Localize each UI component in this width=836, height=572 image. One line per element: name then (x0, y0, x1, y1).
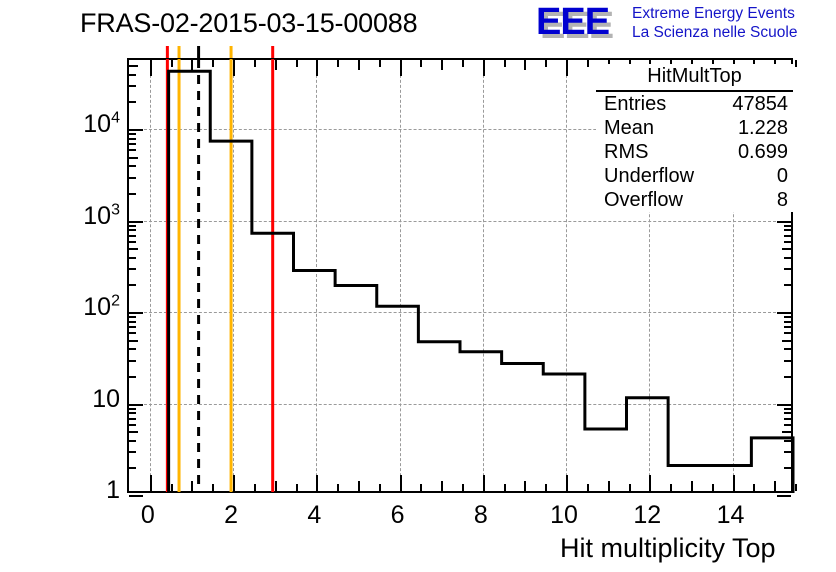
stats-row-label: Underflow (604, 164, 694, 188)
y-axis-minor-tick (129, 241, 136, 243)
gridline-vertical (233, 60, 234, 491)
y-axis-minor-tick (129, 101, 136, 103)
y-axis-minor-tick (129, 85, 136, 87)
y-axis-minor-tick (129, 418, 136, 420)
y-axis-minor-tick (784, 451, 791, 453)
stats-row: Mean1.228 (596, 116, 793, 140)
x-axis-tick-label: 12 (617, 501, 677, 530)
y-axis-minor-tick (784, 467, 791, 469)
y-axis-minor-tick (784, 257, 791, 259)
x-axis-minor-tick (379, 484, 381, 491)
x-axis-minor-tick (441, 481, 443, 491)
stats-row-label: Entries (604, 92, 666, 116)
y-axis-minor-tick (784, 424, 791, 426)
y-axis-tick-label: 104 (40, 110, 120, 139)
x-axis-minor-tick (524, 60, 526, 70)
y-axis-tick-label: 1 (40, 476, 120, 505)
y-axis-minor-tick (129, 193, 136, 195)
x-axis-minor-tick (504, 484, 506, 491)
y-axis-minor-tick (784, 316, 791, 318)
y-axis-major-tick (129, 221, 143, 223)
y-axis-minor-tick (784, 229, 791, 231)
x-axis-minor-tick (254, 60, 256, 67)
y-axis-minor-tick (129, 408, 136, 410)
stats-row-value: 0 (777, 164, 788, 188)
y-axis-major-tick (129, 495, 143, 497)
eee-logo-mark-front: EEE (536, 3, 609, 41)
x-axis-major-tick (233, 60, 235, 76)
y-axis-minor-tick (782, 340, 791, 342)
x-axis-minor-tick (212, 60, 214, 67)
gridline-horizontal (129, 404, 791, 405)
x-axis-minor-tick (254, 484, 256, 491)
x-axis-minor-tick (171, 60, 173, 67)
x-axis-major-tick (649, 475, 651, 491)
x-axis-tick-label: 2 (201, 501, 261, 530)
gridline-horizontal (129, 221, 791, 222)
y-axis-minor-tick (129, 284, 136, 286)
y-axis-minor-tick (784, 408, 791, 410)
y-axis-minor-tick (129, 440, 136, 442)
stats-row-value: 0.699 (738, 140, 788, 164)
y-axis-minor-tick (784, 225, 791, 227)
gridline-vertical (150, 60, 151, 491)
y-axis-minor-tick (129, 133, 136, 135)
y-axis-minor-tick (129, 348, 136, 350)
x-axis-minor-tick (587, 484, 589, 491)
x-axis-tick-label: 0 (118, 501, 178, 530)
y-axis-minor-tick (129, 257, 136, 259)
x-axis-major-tick (316, 475, 318, 491)
y-axis-minor-tick (784, 241, 791, 243)
x-axis-minor-tick (191, 60, 193, 70)
page-title: FRAS-02-2015-03-15-00088 (80, 8, 417, 39)
x-axis-major-tick (400, 60, 402, 76)
x-axis-minor-tick (524, 481, 526, 491)
x-axis-minor-tick (379, 60, 381, 67)
x-axis-major-tick (233, 475, 235, 491)
x-axis-minor-tick (795, 484, 797, 491)
y-axis-minor-tick (129, 360, 136, 362)
gridline-vertical (316, 60, 317, 491)
y-axis-minor-tick (129, 321, 136, 323)
x-axis-minor-tick (691, 481, 693, 491)
x-axis-tick-label: 14 (701, 501, 761, 530)
y-axis-major-tick (129, 404, 143, 406)
y-axis-minor-tick (129, 235, 136, 237)
x-axis-minor-tick (587, 60, 589, 67)
y-axis-minor-tick (129, 376, 136, 378)
x-axis-major-tick (400, 475, 402, 491)
stats-row-value: 1.228 (738, 116, 788, 140)
y-axis-minor-tick (129, 412, 136, 414)
x-axis-major-tick (483, 475, 485, 491)
x-axis-minor-tick (545, 60, 547, 67)
x-axis-minor-tick (275, 481, 277, 491)
x-axis-minor-tick (774, 481, 776, 491)
y-axis-minor-tick (784, 326, 791, 328)
x-axis-minor-tick (296, 60, 298, 67)
y-axis-minor-tick (129, 332, 136, 334)
y-axis-minor-tick (129, 424, 136, 426)
y-axis-major-tick (777, 312, 791, 314)
y-axis-minor-tick (784, 268, 791, 270)
plot-canvas: FRAS-02-2015-03-15-00088 EEE EEE Extreme… (0, 0, 836, 572)
y-axis-minor-tick (784, 348, 791, 350)
x-axis-minor-tick (420, 60, 422, 67)
x-axis-minor-tick (358, 481, 360, 491)
stats-row: Entries47854 (596, 92, 793, 116)
stats-row: RMS0.699 (596, 140, 793, 164)
x-axis-minor-tick (212, 484, 214, 491)
y-axis-minor-tick (784, 376, 791, 378)
stats-row-label: Mean (604, 116, 654, 140)
y-axis-minor-tick (784, 284, 791, 286)
eee-logo-text-line2: La Scienza nelle Scuole (632, 23, 797, 42)
gridline-vertical (483, 60, 484, 491)
stats-row: Underflow0 (596, 164, 793, 188)
stats-box-title: HitMultTop (596, 64, 793, 92)
y-axis-minor-tick (129, 431, 138, 433)
x-axis-minor-tick (629, 484, 631, 491)
gridline-horizontal (129, 312, 791, 313)
x-axis-title: Hit multiplicity Top (560, 533, 776, 564)
x-axis-major-tick (566, 60, 568, 76)
y-axis-minor-tick (784, 332, 791, 334)
x-axis-minor-tick (191, 481, 193, 491)
y-axis-minor-tick (782, 431, 791, 433)
x-axis-minor-tick (296, 484, 298, 491)
y-axis-minor-tick (129, 149, 136, 151)
eee-logo-text-line1: Extreme Energy Events (632, 4, 797, 23)
y-axis-major-tick (129, 312, 143, 314)
x-axis-tick-label: 10 (534, 501, 594, 530)
stats-box: HitMultTop Entries47854Mean1.228RMS0.699… (596, 64, 793, 212)
x-axis-minor-tick (462, 484, 464, 491)
y-axis-minor-tick (129, 177, 136, 179)
eee-logo: EEE EEE Extreme Energy Events La Scienza… (536, 2, 832, 46)
stats-row: Overflow8 (596, 188, 793, 212)
y-axis-minor-tick (129, 138, 136, 140)
y-axis-tick-label: 102 (40, 293, 120, 322)
x-axis-major-tick (566, 475, 568, 491)
x-axis-major-tick (483, 60, 485, 76)
y-axis-minor-tick (129, 74, 136, 76)
x-axis-major-tick (150, 475, 152, 491)
y-axis-minor-tick (784, 235, 791, 237)
x-axis-minor-tick (712, 484, 714, 491)
y-axis-major-tick (777, 404, 791, 406)
stats-row-label: Overflow (604, 188, 683, 212)
x-axis-minor-tick (337, 60, 339, 67)
x-axis-minor-tick (275, 60, 277, 70)
x-axis-minor-tick (753, 484, 755, 491)
x-axis-tick-label: 4 (284, 501, 344, 530)
y-axis-minor-tick (129, 157, 138, 159)
stats-row-value: 8 (777, 188, 788, 212)
eee-logo-text: Extreme Energy Events La Scienza nelle S… (632, 4, 797, 42)
y-axis-minor-tick (784, 418, 791, 420)
y-axis-minor-tick (129, 229, 136, 231)
y-axis-major-tick (777, 495, 791, 497)
y-axis-minor-tick (784, 412, 791, 414)
y-axis-minor-tick (129, 326, 136, 328)
x-axis-minor-tick (608, 481, 610, 491)
x-axis-minor-tick (795, 60, 797, 67)
y-axis-minor-tick (784, 440, 791, 442)
y-axis-minor-tick (784, 360, 791, 362)
x-axis-minor-tick (420, 484, 422, 491)
x-axis-tick-label: 8 (451, 501, 511, 530)
y-axis-minor-tick (129, 451, 136, 453)
y-axis-minor-tick (129, 316, 136, 318)
gridline-vertical (566, 60, 567, 491)
y-axis-major-tick (129, 129, 143, 131)
x-axis-tick-label: 6 (368, 501, 428, 530)
x-axis-minor-tick (504, 60, 506, 67)
x-axis-minor-tick (462, 60, 464, 67)
x-axis-minor-tick (337, 484, 339, 491)
y-axis-minor-tick (129, 65, 138, 67)
x-axis-minor-tick (171, 484, 173, 491)
y-axis-minor-tick (784, 321, 791, 323)
x-axis-minor-tick (358, 60, 360, 70)
x-axis-minor-tick (545, 484, 547, 491)
stats-row-label: RMS (604, 140, 648, 164)
y-axis-minor-tick (129, 340, 138, 342)
y-axis-minor-tick (129, 248, 138, 250)
gridline-vertical (400, 60, 401, 491)
y-axis-minor-tick (129, 268, 136, 270)
y-axis-minor-tick (129, 467, 136, 469)
x-axis-minor-tick (670, 484, 672, 491)
x-axis-major-tick (150, 60, 152, 76)
y-axis-tick-label: 10 (40, 385, 120, 414)
stats-box-rows: Entries47854Mean1.228RMS0.699Underflow0O… (596, 92, 793, 212)
y-axis-minor-tick (129, 225, 136, 227)
x-axis-major-tick (733, 475, 735, 491)
x-axis-major-tick (316, 60, 318, 76)
stats-row-value: 47854 (732, 92, 788, 116)
y-axis-major-tick (777, 221, 791, 223)
y-axis-tick-label: 103 (40, 202, 120, 231)
y-axis-minor-tick (129, 143, 136, 145)
y-axis-minor-tick (129, 165, 136, 167)
x-axis-minor-tick (441, 60, 443, 70)
y-axis-minor-tick (782, 248, 791, 250)
